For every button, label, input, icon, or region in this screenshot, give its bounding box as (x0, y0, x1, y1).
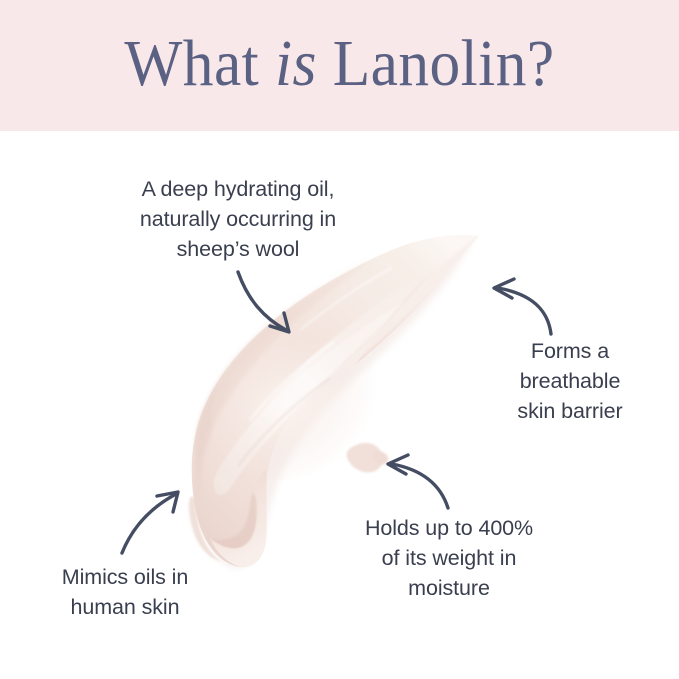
page-title: What is Lanolin? (24, 22, 655, 106)
cream-left-edge-shade (195, 256, 378, 508)
header-band: What is Lanolin? (0, 0, 679, 131)
cream-sheen-secondary (214, 302, 404, 495)
cream-drip-tip (374, 451, 388, 464)
cream-ripple-1 (250, 342, 334, 420)
page-title-emphasis: is (275, 27, 317, 100)
cream-drip-blob (347, 443, 383, 473)
arrow-top-left-curving-down (238, 272, 289, 332)
cream-bottom-hook-shadow (210, 492, 257, 548)
cream-ripple-3 (300, 268, 392, 330)
cream-sheen-streak (236, 250, 458, 469)
cream-belly-highlight (179, 282, 421, 515)
page-title-prefix: What (124, 27, 275, 100)
infographic-canvas: What is Lanolin? (0, 0, 679, 679)
annotation-bottom-text: Holds up to 400% of its weight in moistu… (324, 513, 574, 603)
cream-lower-lobe (189, 496, 222, 562)
annotation-right-text: Forms a breathable skin barrier (477, 336, 663, 426)
cream-bottom-hook (210, 470, 267, 567)
page-title-suffix: Lanolin? (317, 27, 555, 100)
annotation-left-text: Mimics oils in human skin (22, 562, 228, 622)
cream-ripple-2 (238, 378, 330, 466)
annotation-top-text: A deep hydrating oil, naturally occurrin… (96, 174, 380, 264)
arrow-bottom-left-pointing-up-right (122, 492, 178, 553)
arrow-bottom-curving-up-left (388, 455, 448, 508)
arrow-right-curving-up-left (494, 279, 551, 334)
